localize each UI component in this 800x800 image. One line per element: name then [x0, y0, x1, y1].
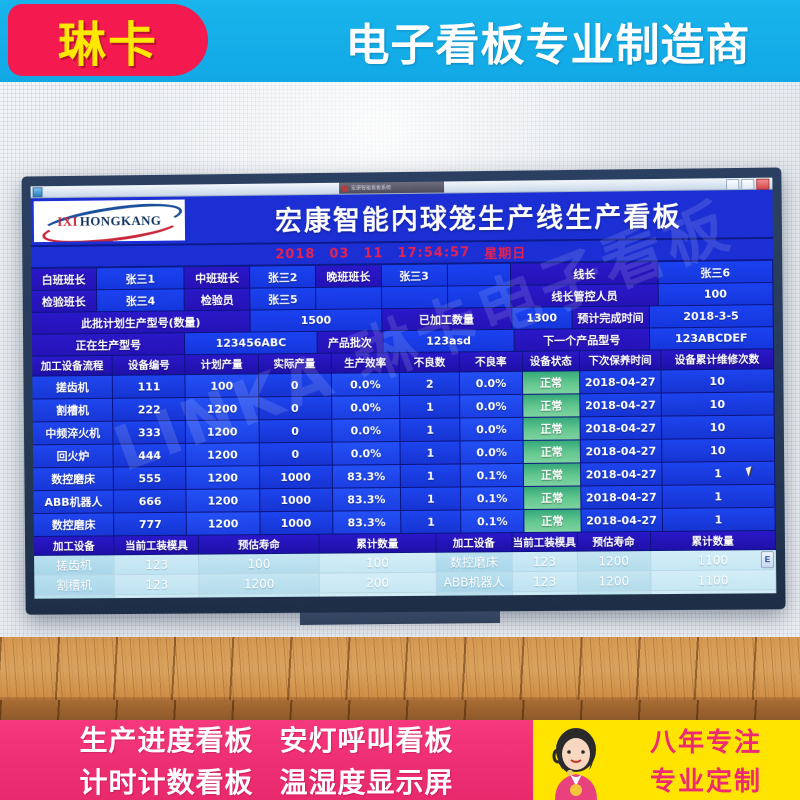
table-cell-maintain: 2018-04-27 [582, 509, 663, 533]
table-cell-plan: 1200 [186, 420, 259, 444]
equipment-column-header: 设备编号 [113, 355, 186, 376]
equipment-column-header: 生产效率 [331, 353, 400, 374]
info-value-cell [382, 287, 448, 310]
promo-product-line: 计时计数看板温湿度显示屏 [79, 761, 453, 800]
tooling-cell-life: 1200 [577, 551, 651, 572]
tooling-tables: 加工设备当前工装模具预估寿命累计数量加工设备当前工装模具预估寿命累计数量搓齿机1… [34, 531, 776, 599]
tooling-cell-life: 100 [199, 554, 319, 575]
info-label-cell: 下一个产品型号 [515, 328, 650, 351]
equipment-column-header: 加工设备流程 [32, 356, 113, 377]
logo-mark-name: HONGKANG [80, 212, 162, 228]
datetime-day: 11 [363, 246, 383, 261]
datetime-month: 03 [329, 246, 349, 261]
status-badge: 正常 [523, 417, 581, 441]
table-cell-rate: 0.1% [461, 464, 523, 488]
info-label-cell: 此批计划生产型号(数量) [32, 311, 251, 335]
kanban-screen: LINKA 琳卡电子看板 IXIHONGKANG 宏康智能内球笼生产线生产看板 … [31, 190, 777, 599]
tooling-cell-name: 数控磨床 [436, 552, 512, 573]
status-badge: 正常 [524, 486, 582, 510]
info-value-cell: 张三3 [382, 264, 448, 287]
table-cell-rate: 0.1% [461, 487, 523, 511]
info-value-cell: 1500 [251, 309, 383, 332]
window-title-dot-icon [342, 185, 348, 191]
table-cell-eff: 83.3% [332, 465, 401, 489]
status-badge: 正常 [523, 394, 581, 418]
info-label-cell: 检验员 [185, 289, 251, 312]
table-cell-plan: 100 [186, 374, 259, 398]
table-cell-repairs: 10 [661, 392, 774, 416]
table-cell-maintain: 2018-04-27 [580, 394, 661, 418]
table-cell-actual: 0 [259, 397, 332, 421]
info-value-cell: 张三5 [250, 288, 316, 311]
equipment-column-header: 计划产量 [186, 354, 259, 375]
info-value-cell: 1300 [512, 307, 573, 330]
table-cell-defect: 1 [401, 487, 462, 511]
table-cell-maintain: 2018-04-27 [580, 370, 661, 394]
app-icon [33, 187, 43, 197]
tooling-cell-total: 100 [320, 553, 437, 574]
tooling-column-header: 加工设备 [436, 533, 512, 553]
tooling-cell-mold: 123 [513, 572, 578, 593]
tooling-column-header: 当前工装模具 [115, 536, 200, 556]
promo-product-item: 温湿度显示屏 [280, 761, 454, 800]
table-cell-no: 333 [114, 421, 187, 445]
table-cell-maintain: 2018-04-27 [581, 440, 662, 464]
minimize-icon[interactable] [726, 179, 739, 190]
table-cell-name: 数控磨床 [34, 513, 115, 537]
datetime-time: 17:54:57 [397, 245, 470, 261]
info-value-cell [447, 264, 511, 287]
tooling-cell-life: 1200 [200, 574, 320, 595]
info-value-cell [448, 286, 512, 309]
table-cell-defect: 1 [401, 464, 462, 488]
tooling-cell-mold: 123 [115, 575, 200, 596]
promo-product-line: 生产进度看板安灯呼叫看板 [79, 719, 453, 759]
tooling-cell-life: 1200 [578, 571, 652, 592]
info-value-cell [316, 287, 382, 310]
table-cell-plan: 1200 [187, 512, 260, 536]
status-badge: 正常 [523, 440, 581, 464]
close-icon[interactable] [756, 179, 769, 190]
table-cell-defect: 1 [400, 395, 461, 419]
info-value-cell: 2018-3-5 [649, 305, 773, 328]
table-cell-eff: 0.0% [332, 396, 401, 420]
tooling-column-header: 预估寿命 [577, 532, 651, 552]
promo-slogan-line: 八年专注 [650, 722, 762, 759]
info-label-cell: 线长管控人员 [512, 284, 659, 308]
tooling-cell-mold: 123 [115, 555, 200, 576]
table-cell-rate: 0.0% [460, 372, 522, 396]
table-cell-actual: 0 [259, 374, 332, 398]
table-cell-defect: 1 [400, 418, 461, 442]
promo-slogan-line: 专业定制 [650, 761, 762, 798]
table-cell-name: 回火炉 [33, 445, 114, 469]
status-badge: 正常 [522, 371, 580, 395]
tooling-cell-name: ABB机器人 [437, 572, 513, 593]
table-cell-rate: 0.0% [461, 418, 523, 442]
table-cell-name: 数控磨床 [33, 468, 114, 492]
promo-text: 八年专注专业定制 [617, 725, 795, 795]
maximize-icon[interactable] [741, 179, 754, 190]
info-value-cell: 123asd [383, 330, 515, 353]
table-cell-plan: 1200 [187, 489, 260, 513]
tooling-cell-name: 中频淬火机 [34, 595, 115, 599]
table-cell-no: 222 [113, 398, 186, 422]
table-cell-maintain: 2018-04-27 [581, 486, 662, 510]
bottom-banner-promo: 八年专注专业定制 [533, 720, 800, 800]
tooling-cell-total: 200 [320, 573, 437, 594]
info-label-cell: 线长 [511, 262, 658, 286]
info-label-cell: 白班班长 [31, 268, 97, 291]
info-label-cell: 产品批次 [317, 331, 383, 354]
promo-product-item: 安灯呼叫看板 [280, 719, 454, 759]
table-cell-no: 555 [114, 467, 187, 491]
table-cell-eff: 0.0% [332, 419, 401, 443]
tooling-column-header: 累计数量 [319, 534, 436, 554]
table-cell-eff: 0.0% [332, 442, 401, 466]
info-label-cell: 已加工数量 [382, 308, 512, 331]
datetime-weekday: 星期日 [484, 242, 526, 261]
table-cell-rate: 0.1% [462, 510, 524, 534]
table-cell-name: 搓齿机 [32, 376, 113, 400]
table-cell-eff: 0.0% [331, 373, 400, 397]
tooling-column-header: 加工设备 [34, 536, 115, 556]
equipment-table: 加工设备流程设备编号计划产量实际产量生产效率不良数不良率设备状态下次保养时间设备… [32, 349, 776, 537]
info-value-cell: 100 [658, 283, 773, 306]
info-value-cell: 123ABCDEF [650, 327, 774, 350]
equipment-column-header: 设备累计维修次数 [661, 349, 774, 370]
tooling-column-header: 当前工装模具 [512, 533, 577, 553]
table-cell-actual: 1000 [260, 489, 333, 513]
table-cell-no: 111 [113, 375, 186, 399]
table-cell-actual: 1000 [260, 512, 333, 536]
table-cell-actual: 0 [259, 443, 332, 467]
window-title-text: 宏康智能看板系统 [351, 184, 391, 191]
monitor-screen-area: 宏康智能看板系统 LINKA 琳卡电子看板 IXIHONGKANG [31, 178, 777, 599]
table-cell-name: 中频淬火机 [33, 422, 114, 446]
table-cell-plan: 1200 [186, 443, 259, 467]
info-value-cell: 张三1 [97, 267, 185, 290]
equipment-column-header: 实际产量 [258, 354, 331, 375]
equipment-column-header: 下次保养时间 [580, 350, 661, 371]
tooling-cell-total: 1100 [651, 550, 776, 571]
bottom-banner-products: 生产进度看板安灯呼叫看板计时计数看板温湿度显示屏 [0, 720, 533, 800]
status-badge: 正常 [524, 510, 582, 534]
tooling-column-header: 累计数量 [651, 531, 776, 551]
company-logo: IXIHONGKANG [34, 200, 185, 243]
table-cell-rate: 0.0% [460, 395, 522, 419]
window-controls[interactable] [726, 179, 769, 191]
table-cell-plan: 1200 [186, 397, 259, 421]
tooling-column-header: 预估寿命 [199, 535, 319, 555]
table-cell-name: ABB机器人 [33, 490, 114, 514]
info-label-cell: 晚班班长 [316, 265, 382, 288]
bottom-banner: 生产进度看板安灯呼叫看板计时计数看板温湿度显示屏 八年专注专业定制 [0, 720, 800, 800]
table-cell-no: 666 [114, 490, 187, 514]
info-value-cell: 123456ABC [185, 332, 317, 355]
tooling-cell-name: 割槽机 [34, 575, 115, 596]
brand-name: 琳卡 [58, 5, 158, 75]
logo-mark-prefix: IXI [57, 213, 78, 228]
table-cell-repairs: 10 [661, 369, 774, 393]
equipment-column-header: 设备状态 [522, 351, 580, 372]
table-cell-defect: 1 [401, 441, 462, 465]
info-label-cell: 中班班长 [185, 267, 251, 290]
promo-product-item: 生产进度看板 [79, 719, 253, 759]
equipment-column-header: 不良数 [400, 352, 461, 373]
table-cell-repairs: 10 [661, 416, 774, 440]
table-cell-actual: 0 [259, 420, 332, 444]
table-cell-eff: 83.3% [333, 511, 402, 535]
table-cell-defect: 1 [401, 511, 462, 535]
table-cell-defect: 2 [400, 372, 461, 396]
info-label-cell: 检验班长 [32, 290, 98, 313]
kanban-header: IXIHONGKANG 宏康智能内球笼生产线生产看板 [31, 190, 773, 247]
table-cell-maintain: 2018-04-27 [581, 463, 662, 487]
table-cell-plan: 1200 [187, 466, 260, 490]
brand-badge: 琳卡 [8, 4, 208, 76]
table-cell-actual: 1000 [259, 466, 332, 490]
table-cell-maintain: 2018-04-27 [581, 417, 662, 441]
table-cell-name: 割槽机 [33, 399, 114, 423]
table-cell-repairs: 10 [662, 439, 775, 463]
table-cell-no: 777 [114, 513, 187, 537]
tooling-cell-name: 搓齿机 [34, 555, 115, 576]
banner-slogan: 电子看板专业制造商 [300, 6, 796, 76]
kanban-info-section: 白班班长张三1中班班长张三2晚班班长张三3线长张三6检验班长张三4检验员张三5线… [31, 261, 774, 357]
promo-product-item: 计时计数看板 [79, 761, 253, 800]
table-cell-rate: 0.0% [461, 441, 523, 465]
table-cell-repairs: 1 [662, 485, 775, 509]
headset-operator-icon [539, 724, 613, 800]
datetime-year: 2018 [275, 246, 315, 261]
wood-floor-edge [0, 700, 800, 720]
table-cell-repairs: 1 [662, 508, 775, 532]
status-badge: 正常 [523, 463, 581, 487]
window-title-chip: 宏康智能看板系统 [339, 181, 444, 193]
screenshot-root: 琳卡 电子看板专业制造商 宏康智能看板系统 [0, 0, 800, 800]
tooling-cell-mold: 123 [512, 552, 577, 573]
monitor: 宏康智能看板系统 LINKA 琳卡电子看板 IXIHONGKANG [22, 167, 786, 614]
top-banner: 琳卡 电子看板专业制造商 [0, 0, 800, 82]
table-cell-repairs: 1 [662, 462, 775, 486]
equipment-column-header: 不良率 [460, 352, 522, 373]
table-cell-eff: 83.3% [333, 488, 402, 512]
info-label-cell: 正在生产型号 [32, 333, 186, 356]
tooling-cell-total: 1100 [651, 570, 776, 591]
info-value-cell: 张三2 [250, 266, 316, 289]
info-value-cell: 张三4 [97, 289, 185, 312]
kanban-title: 宏康智能内球笼生产线生产看板 [185, 190, 773, 244]
info-label-cell: 预计完成时间 [572, 306, 649, 329]
logo-text: IXIHONGKANG [57, 212, 161, 229]
table-cell-no: 444 [114, 444, 187, 468]
info-value-cell: 张三6 [658, 261, 773, 284]
screen-corner-tab-icon[interactable]: E [761, 551, 774, 568]
